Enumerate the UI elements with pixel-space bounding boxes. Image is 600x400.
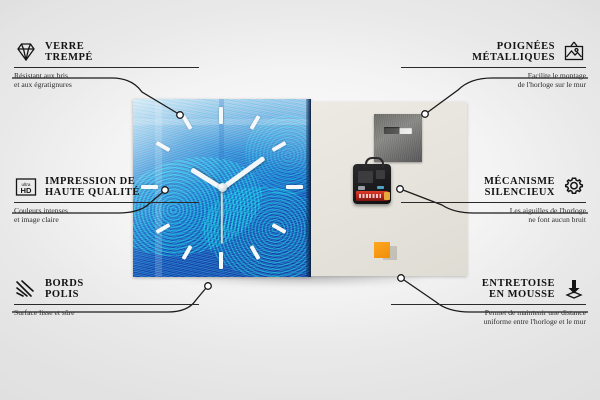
mechanism-detail [358, 186, 365, 190]
svg-text:HD: HD [21, 186, 32, 195]
mechanism-detail [376, 170, 385, 179]
mechanism-detail [377, 186, 384, 189]
quartz-mechanism [353, 164, 391, 204]
callout-divider [14, 67, 199, 68]
metal-hanger-plate [374, 114, 422, 162]
callout-poignees-metalliques: POIGNÉES MÉTALLIQUES Facilite le montage… [401, 40, 586, 89]
callout-title-line2: SILENCIEUX [484, 187, 555, 199]
callout-caption-line2: de l'horloge sur le mur [401, 80, 586, 89]
callout-divider [401, 202, 586, 203]
callout-title-line1: MÉCANISME [484, 176, 555, 188]
callout-title-line1: ENTRETOISE [482, 278, 555, 290]
callout-divider [391, 304, 586, 305]
callout-caption-line2: et image claire [14, 215, 199, 224]
infographic-canvas: VERRE TREMPÉ Résistant aux bris et aux é… [0, 0, 600, 400]
callout-title-line2: HAUTE QUALITÉ [45, 187, 140, 199]
diamond-icon [14, 40, 38, 64]
callout-divider [14, 202, 199, 203]
callout-title-line2: TREMPÉ [45, 52, 93, 64]
ultra-hd-badge-icon: ultra HD [14, 175, 38, 199]
callout-title-line2: MÉTALLIQUES [472, 52, 555, 64]
battery-plus-terminal [384, 192, 390, 200]
battery-label [359, 194, 381, 198]
callout-divider [401, 67, 586, 68]
callout-title-line1: VERRE [45, 41, 93, 53]
callout-caption-line1: Les aiguilles de l'horloge [401, 206, 586, 215]
mechanism-detail [358, 171, 373, 183]
callout-verre-trempe: VERRE TREMPÉ Résistant aux bris et aux é… [14, 40, 199, 89]
diagonal-lines-icon [14, 277, 38, 301]
callout-title-line1: BORDS [45, 278, 84, 290]
callout-caption-line1: Permet de maintenir une distance [391, 308, 586, 317]
gear-icon [562, 175, 586, 199]
foam-spacer [374, 242, 390, 258]
callout-caption-line2: uniforme entre l'horloge et le mur [391, 317, 586, 326]
callout-caption-line1: Couleurs intenses [14, 206, 199, 215]
callout-impression-haute-qualite: ultra HD IMPRESSION DE HAUTE QUALITÉ Cou… [14, 175, 199, 224]
callout-caption-line1: Surface lisse et sûre [14, 308, 199, 317]
callout-title-line1: POIGNÉES [472, 41, 555, 53]
callout-title-line2: EN MOUSSE [482, 289, 555, 301]
callout-caption-line1: Facilite le montage [401, 71, 586, 80]
callout-bords-polis: BORDS POLIS Surface lisse et sûre [14, 277, 199, 317]
hanger-keyhole-slot [384, 127, 412, 134]
callout-divider [14, 304, 199, 305]
callout-mecanisme-silencieux: MÉCANISME SILENCIEUX Les aiguilles de l'… [401, 175, 586, 224]
callout-title-line2: POLIS [45, 289, 84, 301]
arrow-down-pad-icon [562, 277, 586, 301]
callout-caption-line2: et aux égratignures [14, 80, 199, 89]
callout-caption-line1: Résistant aux bris [14, 71, 199, 80]
callout-caption-line2: ne font aucun bruit [401, 215, 586, 224]
mechanism-hanging-loop [365, 157, 384, 168]
hanging-picture-frame-icon [562, 40, 586, 64]
battery [356, 191, 388, 201]
callout-entretoise-en-mousse: ENTRETOISE EN MOUSSE Permet de maintenir… [391, 277, 586, 326]
callout-title-line1: IMPRESSION DE [45, 176, 140, 188]
